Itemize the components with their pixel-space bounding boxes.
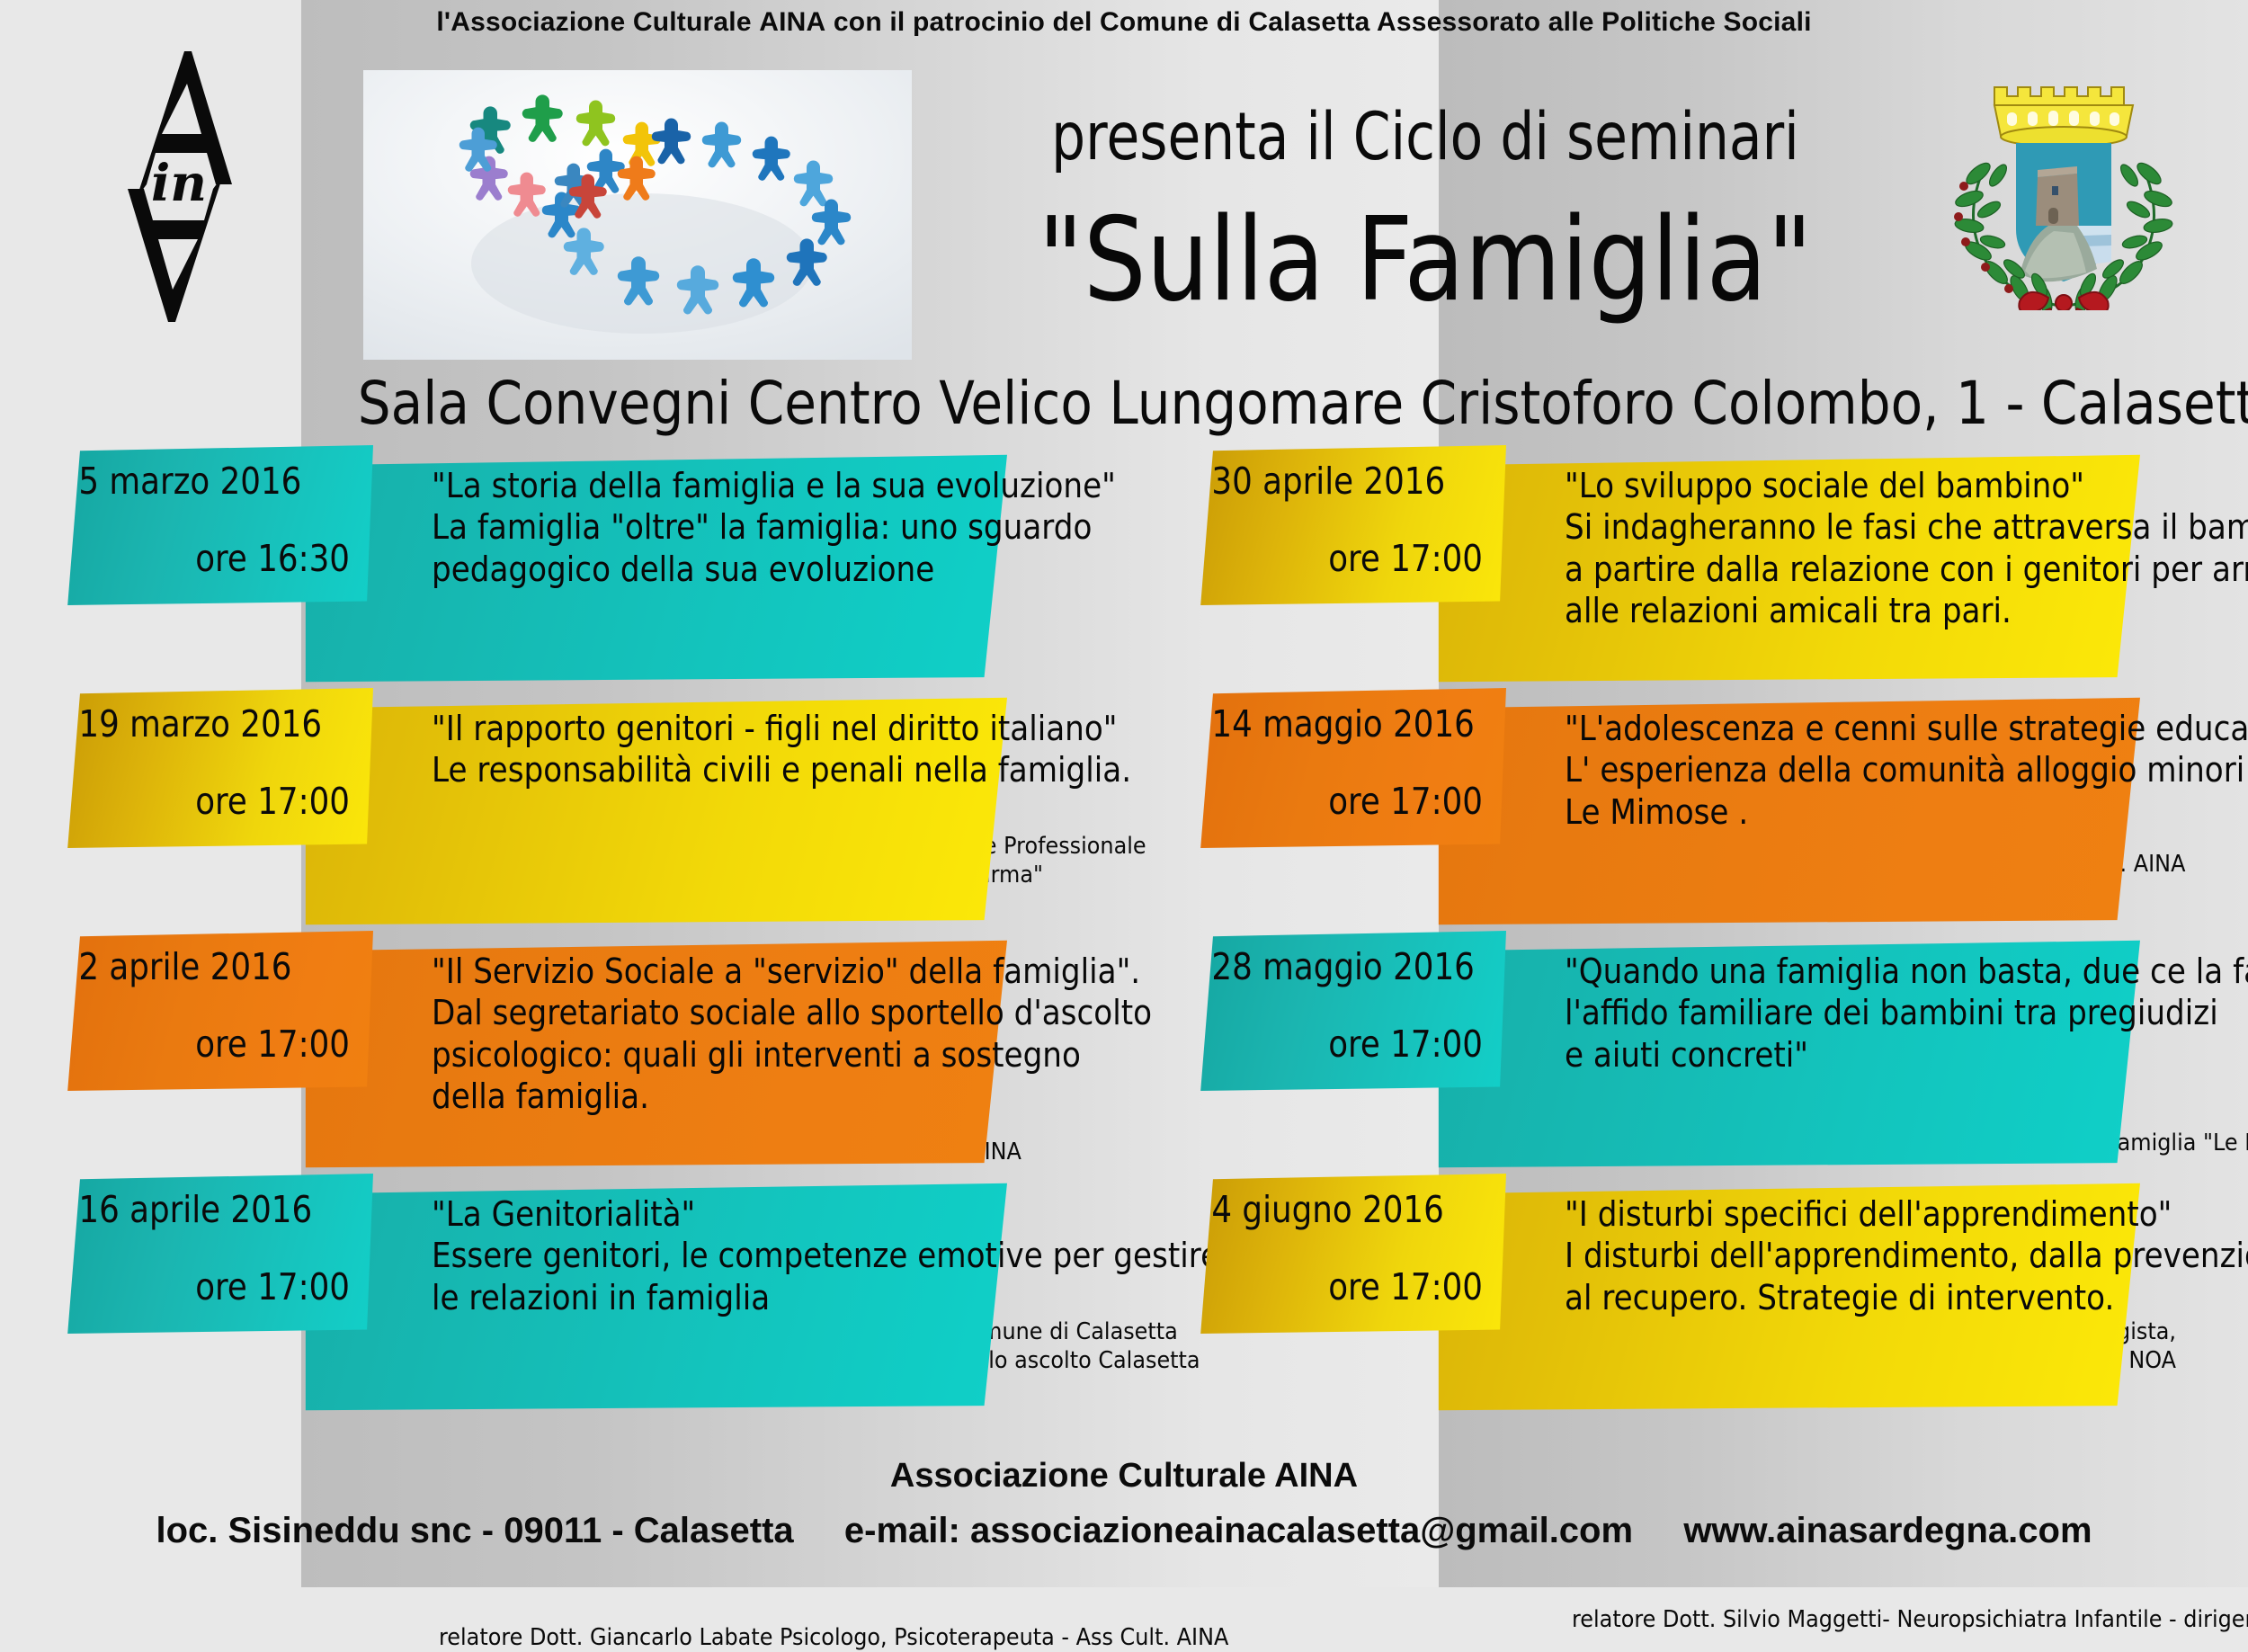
- presenta-line: presenta il Ciclo di seminari: [1009, 99, 1842, 175]
- seminar-card: "Lo sviluppo sociale del bambino"Si inda…: [1187, 445, 2158, 688]
- seminar-date-badge: 4 giugno 2016ore 17:00: [1196, 1174, 1506, 1334]
- seminar-description-line: al recupero. Strategie di intervento.: [1565, 1277, 2083, 1318]
- footer-organization: Associazione Culturale AINA: [0, 1457, 2248, 1496]
- seminar-description-line: "Il Servizio Sociale a "servizio" della …: [432, 951, 950, 992]
- seminar-description-line: "Il rapporto genitori - figli nel diritt…: [432, 708, 950, 749]
- seminar-description: "I disturbi specifici dell'apprendimento…: [1565, 1193, 2140, 1318]
- seminar-time: ore 17:00: [100, 1265, 350, 1308]
- seminar-description-line: L' esperienza della comunità alloggio mi…: [1565, 749, 2083, 790]
- seminar-description-line: Le Mimose .: [1565, 791, 2083, 833]
- seminar-time: ore 17:00: [1233, 1022, 1483, 1066]
- seminar-description-line: "Lo sviluppo sociale del bambino": [1565, 465, 2083, 506]
- seminar-date: 4 giugno 2016: [1196, 1188, 1455, 1231]
- seminar-description-line: della famiglia.: [432, 1076, 950, 1117]
- seminar-speaker: relatore Dott. Giancarlo Labate Psicolog…: [439, 1623, 1018, 1652]
- seminar-date-badge: 28 maggio 2016ore 17:00: [1196, 931, 1506, 1091]
- seminar-speaker-line: relatore Dott. Silvio Maggetti- Neuropsi…: [1572, 1605, 2151, 1634]
- seminar-description: "L'adolescenza e cenni sulle strategie e…: [1565, 708, 2140, 833]
- seminar-description-line: pedagogico della sua evoluzione: [432, 549, 950, 590]
- seminar-card: "La storia della famiglia e la sua evolu…: [54, 445, 1025, 688]
- seminar-description-line: l'affido familiare dei bambini tra pregi…: [1565, 992, 2083, 1033]
- circle-of-people-photo: [363, 70, 912, 360]
- seminar-time: ore 17:00: [1233, 537, 1483, 580]
- seminar-date-badge: 2 aprile 2016ore 17:00: [63, 931, 373, 1091]
- seminar-card: "I disturbi specifici dell'apprendimento…: [1187, 1174, 2158, 1416]
- organizer-header-pre: l'Associazione Culturale: [436, 7, 759, 37]
- calasetta-coat-of-arms-icon: [1942, 49, 2185, 310]
- seminar-date: 14 maggio 2016: [1196, 702, 1455, 746]
- seminar-description-line: "Quando una famiglia non basta, due ce l…: [1565, 951, 2083, 992]
- seminar-date-badge: 16 aprile 2016ore 17:00: [63, 1174, 373, 1334]
- seminar-description-line: psicologico: quali gli interventi a sost…: [432, 1034, 950, 1076]
- seminar-description: "Il rapporto genitori - figli nel diritt…: [432, 708, 1007, 791]
- seminar-description-line: Le responsabilità civili e penali nella …: [432, 749, 950, 790]
- seminar-time: ore 16:30: [100, 537, 350, 580]
- seminar-time: ore 17:00: [100, 780, 350, 823]
- organizer-header-post: con il patrocinio del Comune di Calasett…: [825, 7, 1811, 37]
- seminar-time: ore 17:00: [1233, 1265, 1483, 1308]
- footer-website[interactable]: www.ainasardegna.com: [1683, 1511, 2092, 1551]
- footer-contacts: loc. Sisineddu snc - 09011 - Calasetta e…: [0, 1511, 2248, 1551]
- seminar-description-line: Dal segretariato sociale allo sportello …: [432, 992, 950, 1033]
- seminar-description-line: alle relazioni amicali tra pari.: [1565, 590, 2083, 631]
- seminar-date: 5 marzo 2016: [63, 460, 322, 503]
- seminar-card: "Quando una famiglia non basta, due ce l…: [1187, 931, 2158, 1174]
- seminar-date: 19 marzo 2016: [63, 702, 322, 746]
- seminar-date: 16 aprile 2016: [63, 1188, 322, 1231]
- seminar-card: "Il Servizio Sociale a "servizio" della …: [54, 931, 1025, 1174]
- seminar-card: "La Genitorialità"Essere genitori, le co…: [54, 1174, 1025, 1416]
- seminar-card: "Il rapporto genitori - figli nel diritt…: [54, 688, 1025, 931]
- footer-address: loc. Sisineddu snc - 09011 - Calasetta: [156, 1511, 793, 1551]
- seminar-description: "Quando una famiglia non basta, due ce l…: [1565, 951, 2140, 1076]
- seminar-description-line: La famiglia "oltre" la famiglia: uno sgu…: [432, 506, 950, 548]
- seminar-date: 28 maggio 2016: [1196, 945, 1455, 988]
- seminar-description-line: "I disturbi specifici dell'apprendimento…: [1565, 1193, 2083, 1235]
- seminar-description-line: "La Genitorialità": [432, 1193, 950, 1235]
- seminar-time: ore 17:00: [100, 1022, 350, 1066]
- seminar-description-line: "La storia della famiglia e la sua evolu…: [432, 465, 950, 506]
- seminar-date: 2 aprile 2016: [63, 945, 322, 988]
- seminar-description-line: Essere genitori, le competenze emotive p…: [432, 1235, 950, 1276]
- venue-line: Sala Convegni Centro Velico Lungomare Cr…: [358, 369, 2043, 438]
- seminar-date: 30 aprile 2016: [1196, 460, 1455, 503]
- organizer-header-brand: AINA: [759, 7, 825, 37]
- seminar-description-line: le relazioni in famiglia: [432, 1277, 950, 1318]
- footer-email[interactable]: e-mail: associazioneainacalasetta@gmail.…: [844, 1511, 1633, 1551]
- seminar-speaker: relatore Dott. Silvio Maggetti- Neuropsi…: [1572, 1605, 2151, 1634]
- seminar-date-badge: 14 maggio 2016ore 17:00: [1196, 688, 1506, 848]
- seminar-description: "La Genitorialità"Essere genitori, le co…: [432, 1193, 1007, 1318]
- organizer-header: l'Associazione Culturale AINA con il pat…: [0, 7, 2248, 38]
- seminar-time: ore 17:00: [1233, 780, 1483, 823]
- seminar-card: "L'adolescenza e cenni sulle strategie e…: [1187, 688, 2158, 931]
- seminar-description-line: e aiuti concreti": [1565, 1034, 2083, 1076]
- seminar-description: "La storia della famiglia e la sua evolu…: [432, 465, 1007, 590]
- aina-logo-in-text: in: [151, 154, 207, 213]
- seminar-description: "Il Servizio Sociale a "servizio" della …: [432, 951, 1007, 1117]
- seminar-date-badge: 5 marzo 2016ore 16:30: [63, 445, 373, 605]
- seminar-date-badge: 19 marzo 2016ore 17:00: [63, 688, 373, 848]
- seminar-date-badge: 30 aprile 2016ore 17:00: [1196, 445, 1506, 605]
- seminar-description-line: "L'adolescenza e cenni sulle strategie e…: [1565, 708, 2083, 749]
- seminar-description-line: Si indagheranno le fasi che attraversa i…: [1565, 506, 2083, 548]
- seminar-description-line: a partire dalla relazione con i genitori…: [1565, 549, 2083, 590]
- aina-logo: in: [99, 40, 261, 328]
- seminar-description: "Lo sviluppo sociale del bambino"Si inda…: [1565, 465, 2140, 631]
- seminar-description-line: I disturbi dell'apprendimento, dalla pre…: [1565, 1235, 2083, 1276]
- page-title: "Sulla Famiglia": [973, 193, 1878, 327]
- seminar-speaker-line: relatore Dott. Giancarlo Labate Psicolog…: [439, 1623, 1018, 1652]
